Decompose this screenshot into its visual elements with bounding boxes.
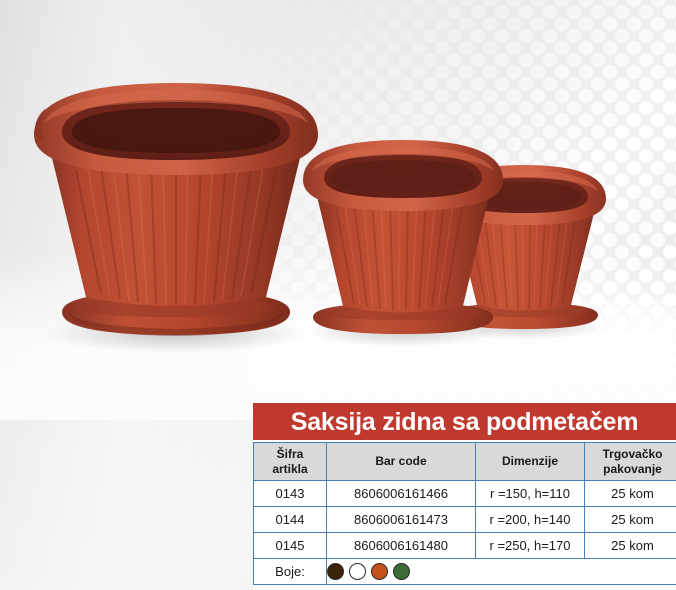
cell-pakovanje: 25 kom bbox=[585, 507, 676, 533]
colors-swatch-cell bbox=[327, 559, 676, 585]
color-swatch-dark-green[interactable] bbox=[393, 563, 410, 580]
header-line-1: Bar code bbox=[327, 454, 475, 469]
cell-sifra: 0144 bbox=[254, 507, 327, 533]
product-title: Saksija zidna sa podmetačem bbox=[253, 403, 676, 442]
product-sheet-page: Saksija zidna sa podmetačem Šifra artikl… bbox=[0, 0, 676, 590]
column-header-dimenzije: Dimenzije bbox=[476, 443, 585, 481]
cell-bar-code: 8606006161473 bbox=[327, 507, 476, 533]
column-header-sifra-artikla: Šifra artikla bbox=[254, 443, 327, 481]
color-swatch-dark-brown[interactable] bbox=[327, 563, 344, 580]
column-header-bar-code: Bar code bbox=[327, 443, 476, 481]
color-swatch-terracotta-orange[interactable] bbox=[371, 563, 388, 580]
table-row: 0145 8606006161480 r =250, h=170 25 kom bbox=[254, 533, 676, 559]
cell-dimenzije: r =250, h=170 bbox=[476, 533, 585, 559]
header-line-1: Dimenzije bbox=[476, 454, 584, 469]
spec-table-panel: Saksija zidna sa podmetačem Šifra artikl… bbox=[253, 403, 676, 590]
table-row: 0143 8606006161466 r =150, h=110 25 kom bbox=[254, 481, 676, 507]
cell-sifra: 0143 bbox=[254, 481, 327, 507]
cell-sifra: 0145 bbox=[254, 533, 327, 559]
color-swatch-list bbox=[327, 563, 676, 580]
column-header-trgovacko-pakovanje: Trgovačko pakovanje bbox=[585, 443, 676, 481]
header-line-2: pakovanje bbox=[585, 462, 676, 477]
cell-bar-code: 8606006161466 bbox=[327, 481, 476, 507]
cell-pakovanje: 25 kom bbox=[585, 481, 676, 507]
spec-table-body: 0143 8606006161466 r =150, h=110 25 kom … bbox=[254, 481, 676, 585]
color-swatch-white[interactable] bbox=[349, 563, 366, 580]
header-line-1: Trgovačko bbox=[585, 447, 676, 462]
spec-table-head: Šifra artikla Bar code Dimenzije Trgovač… bbox=[254, 443, 676, 481]
cell-dimenzije: r =200, h=140 bbox=[476, 507, 585, 533]
colors-row: Boje: bbox=[254, 559, 676, 585]
colors-label: Boje: bbox=[254, 559, 327, 585]
table-row: 0144 8606006161473 r =200, h=140 25 kom bbox=[254, 507, 676, 533]
large-planter bbox=[24, 75, 329, 355]
header-line-1: Šifra bbox=[254, 447, 326, 462]
cell-pakovanje: 25 kom bbox=[585, 533, 676, 559]
cell-dimenzije: r =150, h=110 bbox=[476, 481, 585, 507]
header-line-2: artikla bbox=[254, 462, 326, 477]
table-header-row: Šifra artikla Bar code Dimenzije Trgovač… bbox=[254, 443, 676, 481]
cell-bar-code: 8606006161480 bbox=[327, 533, 476, 559]
spec-table: Šifra artikla Bar code Dimenzije Trgovač… bbox=[253, 442, 676, 585]
